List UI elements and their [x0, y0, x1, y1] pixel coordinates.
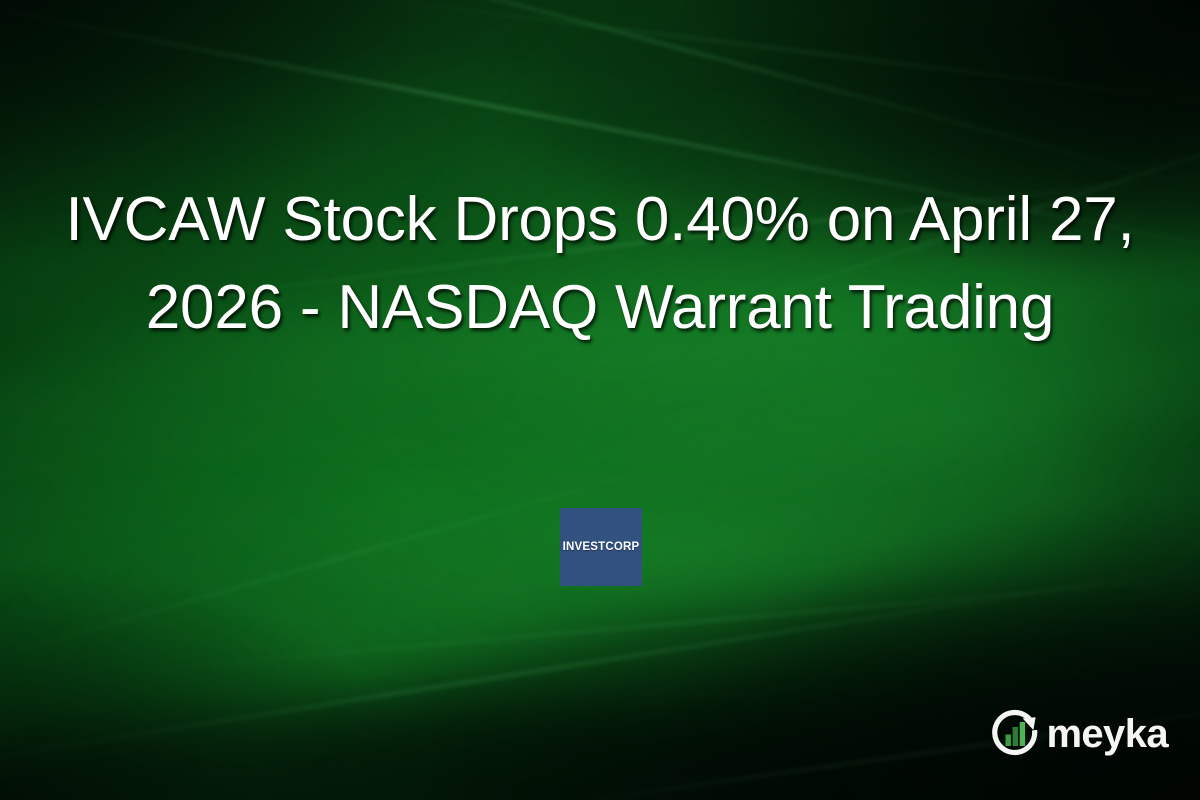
- company-logo-label: INVESTCORP: [563, 541, 640, 553]
- social-share-banner: IVCAW Stock Drops 0.40% on April 27, 202…: [0, 0, 1200, 800]
- page-title: IVCAW Stock Drops 0.40% on April 27, 202…: [55, 176, 1145, 352]
- banner-content: IVCAW Stock Drops 0.40% on April 27, 202…: [0, 0, 1200, 800]
- brand-lockup: meyka: [990, 708, 1168, 760]
- meyka-logo-icon: [990, 708, 1042, 760]
- company-logo: INVESTCORP: [560, 508, 642, 586]
- brand-name: meyka: [1046, 714, 1168, 754]
